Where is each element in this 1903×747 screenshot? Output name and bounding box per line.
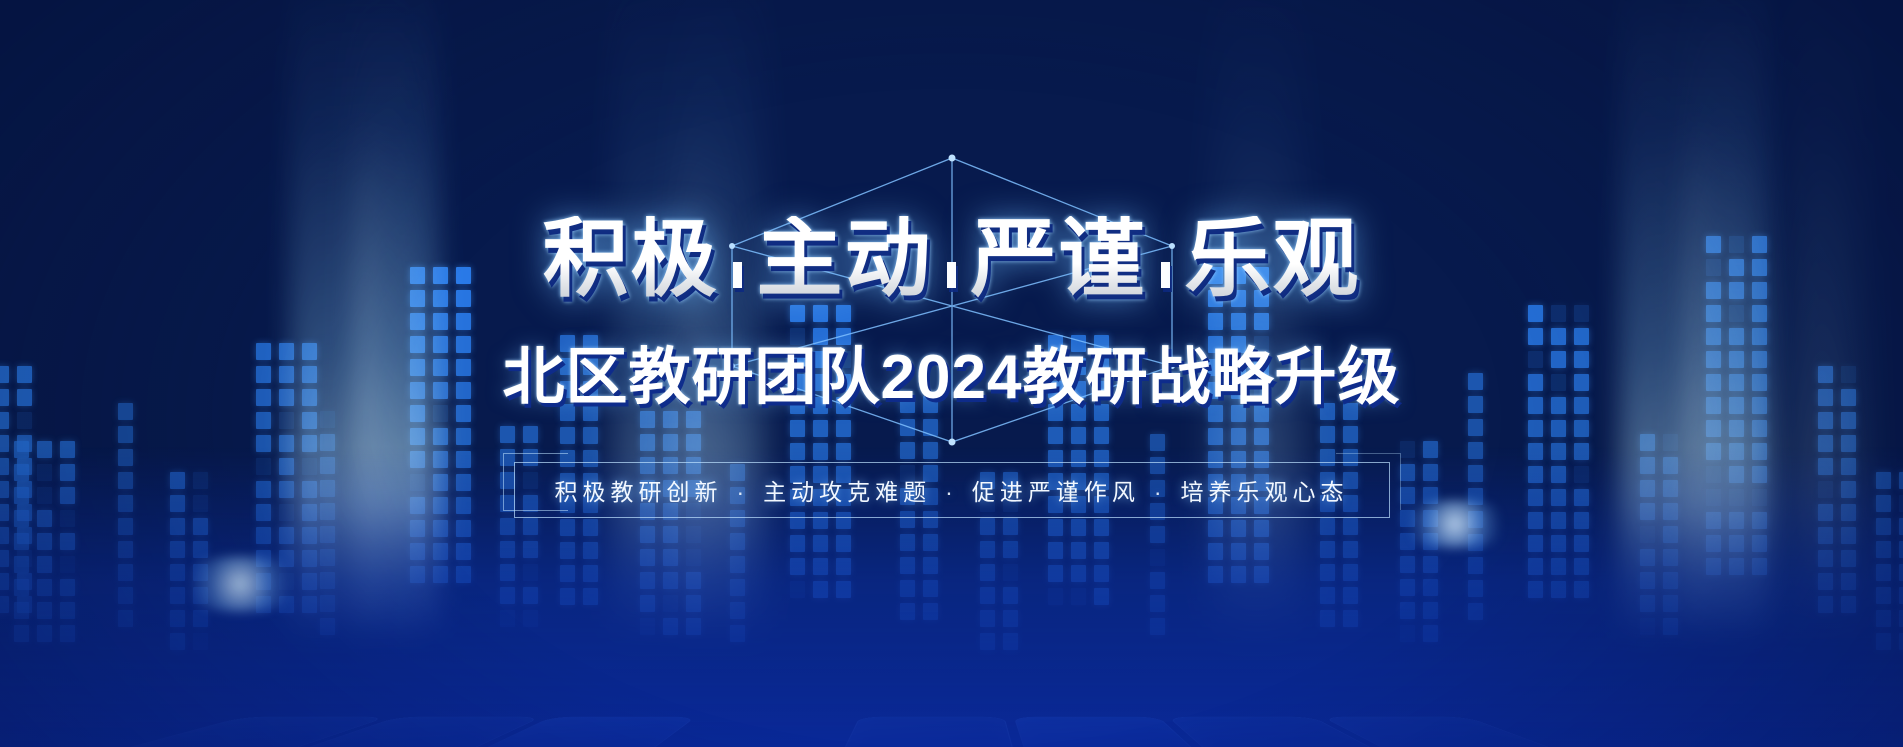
tagline-item: 促进严谨作风 bbox=[972, 479, 1140, 505]
tagline-box: 积极教研创新·主动攻克难题·促进严谨作风·培养乐观心态 bbox=[514, 462, 1390, 518]
event-banner: 积极 主动 严谨 乐观 北区教研团队2024教研战略升级 积极教研创新·主动攻克… bbox=[0, 0, 1903, 747]
subtitle: 北区教研团队2024教研战略升级 bbox=[0, 326, 1903, 416]
headline-word-2: 主动 bbox=[757, 216, 933, 302]
headline-word-3: 严谨 bbox=[970, 216, 1146, 302]
headline-separator-3 bbox=[1161, 262, 1170, 288]
tagline-item: 主动攻克难题 bbox=[763, 479, 931, 505]
tagline-dot: · bbox=[1154, 479, 1167, 505]
headline-word-4: 乐观 bbox=[1184, 216, 1360, 302]
headline: 积极 主动 严谨 乐观 bbox=[0, 216, 1903, 306]
tagline-dot: · bbox=[736, 479, 749, 505]
tagline-text: 积极教研创新·主动攻克难题·促进严谨作风·培养乐观心态 bbox=[554, 473, 1348, 507]
banner-text-stage: 积极 主动 严谨 乐观 北区教研团队2024教研战略升级 积极教研创新·主动攻克… bbox=[0, 0, 1903, 747]
headline-separator-1 bbox=[733, 262, 742, 288]
tagline-item: 培养乐观心态 bbox=[1181, 479, 1349, 505]
tagline-item: 积极教研创新 bbox=[554, 479, 722, 505]
tagline-dot: · bbox=[945, 479, 958, 505]
headline-separator-2 bbox=[947, 262, 956, 288]
headline-word-1: 积极 bbox=[543, 216, 719, 302]
